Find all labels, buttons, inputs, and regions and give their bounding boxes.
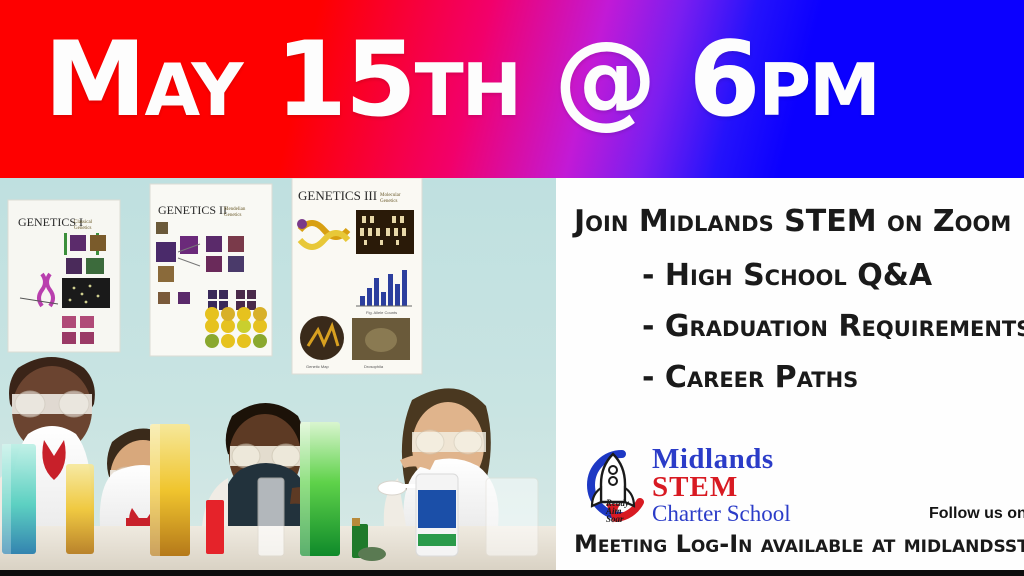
meeting-login-text: Meeting Log-In available at midlandsstem…	[574, 532, 1024, 556]
svg-text:Classical: Classical	[74, 220, 93, 225]
rocket-logo-icon: Ready Aim Soar	[576, 446, 650, 524]
flyer-canvas: May 15th @ 6pm	[0, 0, 1024, 576]
svg-text:Genetics: Genetics	[224, 213, 242, 218]
svg-text:Drosophila: Drosophila	[364, 364, 384, 369]
motto-soar: Soar	[606, 514, 624, 524]
bullet-career-paths: - Career Paths	[642, 363, 858, 393]
follow-us-label: Follow us on	[929, 506, 1024, 522]
logo-line-charter-school: Charter School	[652, 501, 791, 527]
info-panel: Join Midlands STEM on Zoom - High School…	[556, 178, 1024, 576]
bullet-graduation-requirements: - Graduation Requirements	[642, 312, 1024, 342]
logo-wordmark: Midlands STEM Charter School	[652, 446, 791, 527]
svg-text:Genetic Map: Genetic Map	[306, 364, 329, 369]
svg-text:Mendelian: Mendelian	[224, 207, 246, 212]
event-date-title: May 15th @ 6pm	[44, 29, 879, 132]
svg-text:Molecular: Molecular	[380, 193, 401, 198]
footer-strip: Meeting Log-In available at midlandsstem…	[556, 528, 1024, 568]
header-banner: May 15th @ 6pm	[0, 0, 1024, 178]
students-lab-photo: GENETICS I Classical Genetics	[0, 178, 556, 571]
lab-scene-illustration: GENETICS I Classical Genetics	[0, 178, 556, 571]
rocket-circle-mark: Ready Aim Soar	[576, 446, 650, 524]
svg-text:GENETICS III: GENETICS III	[298, 188, 377, 203]
bullet-high-school-qa: - High School Q&A	[642, 261, 932, 291]
svg-text:GENETICS II: GENETICS II	[158, 203, 227, 217]
midlands-stem-logo: Ready Aim Soar Midlands STEM Charter Sch…	[576, 446, 866, 528]
svg-text:Genetics: Genetics	[74, 226, 92, 231]
svg-text:Fig. Allele Counts: Fig. Allele Counts	[366, 310, 397, 315]
svg-text:Genetics: Genetics	[380, 199, 398, 204]
logo-line-stem: STEM	[652, 473, 791, 501]
bottom-divider	[0, 570, 1024, 576]
logo-line-midlands: Midlands	[652, 446, 791, 473]
panel-headline: Join Midlands STEM on Zoom	[574, 207, 1011, 237]
